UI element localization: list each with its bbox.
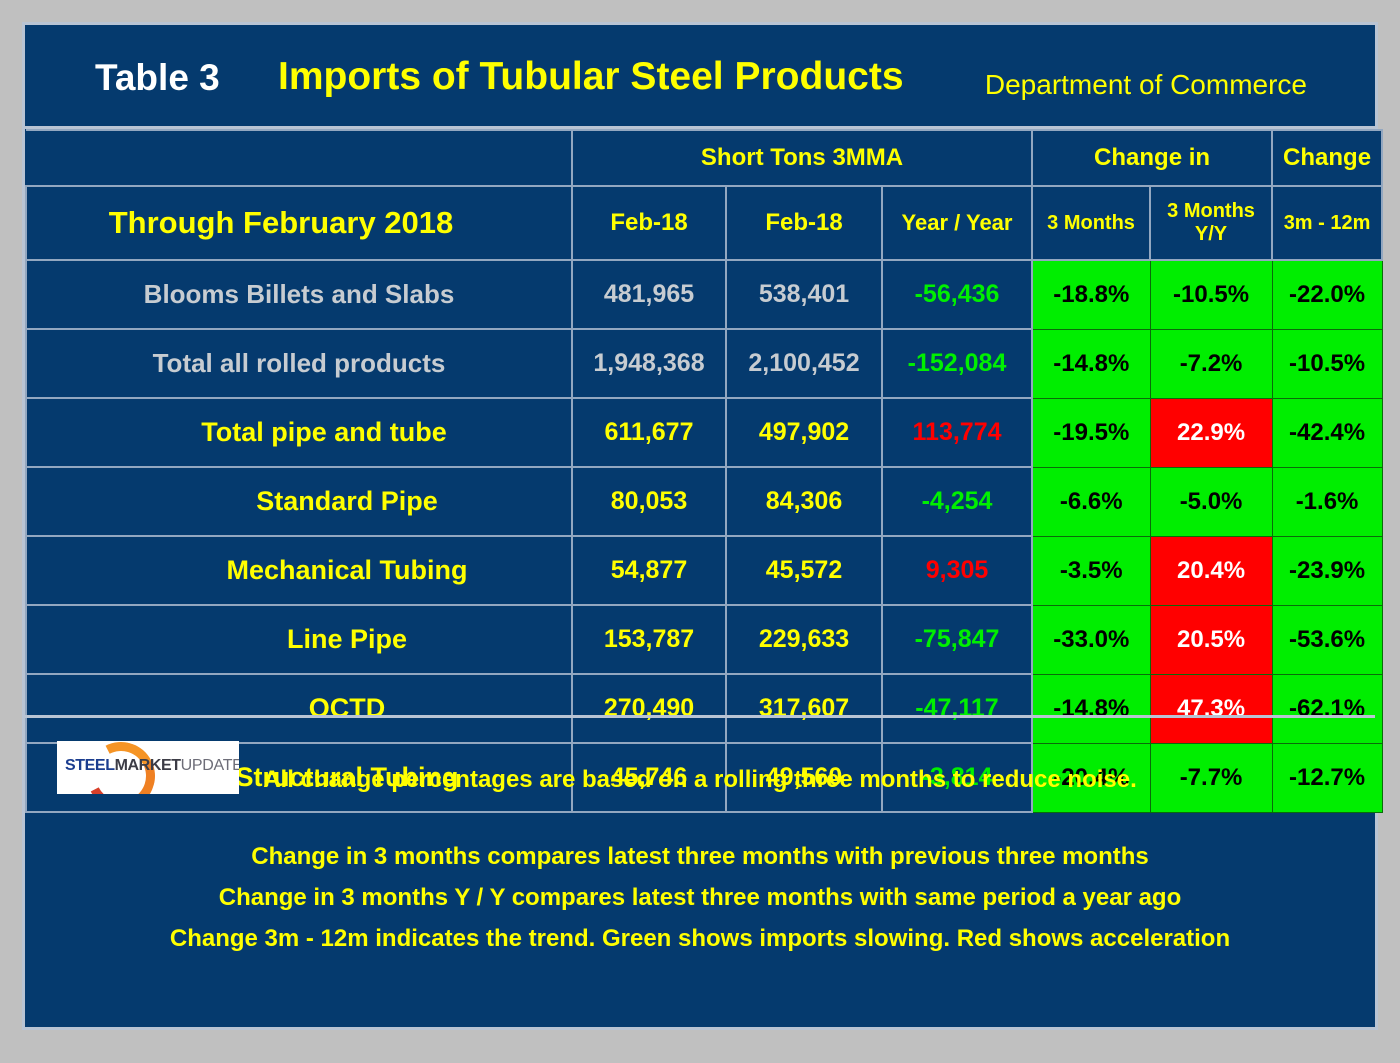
- cell-feb18-b: 538,401: [726, 260, 882, 329]
- cell-feb18-a: 80,053: [572, 467, 726, 536]
- cell-year-over-year: -75,847: [882, 605, 1032, 674]
- cell-change-3m-12m: -42.4%: [1272, 398, 1382, 467]
- group-header-change-in: Change in: [1032, 130, 1272, 186]
- cell-change-3-months: -6.6%: [1032, 467, 1150, 536]
- column-header-period: Through February 2018: [26, 186, 572, 260]
- table-number: Table 3: [95, 57, 220, 99]
- cell-change-3m-12m: -23.9%: [1272, 536, 1382, 605]
- row-label: Total pipe and tube: [26, 398, 572, 467]
- cell-change-3m-12m: -10.5%: [1272, 329, 1382, 398]
- cell-feb18-b: 497,902: [726, 398, 882, 467]
- cell-change-3m-12m: -22.0%: [1272, 260, 1382, 329]
- cell-change-3-months-yy: -5.0%: [1150, 467, 1272, 536]
- cell-year-over-year: 9,305: [882, 536, 1032, 605]
- footer-note-4: Change 3m - 12m indicates the trend. Gre…: [25, 925, 1375, 953]
- cell-year-over-year: -4,254: [882, 467, 1032, 536]
- table-row: Line Pipe153,787229,633-75,847-33.0%20.5…: [26, 605, 1382, 674]
- cell-change-3-months-yy: 20.5%: [1150, 605, 1272, 674]
- cell-change-3-months: -18.8%: [1032, 260, 1150, 329]
- column-header-3-months: 3 Months: [1032, 186, 1150, 260]
- row-label: Line Pipe: [26, 605, 572, 674]
- imports-table: Short Tons 3MMA Change in Change Through…: [25, 129, 1383, 813]
- column-header-3-months-yy-line2: Y/Y: [1195, 223, 1227, 245]
- cell-year-over-year: 113,774: [882, 398, 1032, 467]
- cell-feb18-b: 2,100,452: [726, 329, 882, 398]
- row-label: Standard Pipe: [26, 467, 572, 536]
- cell-feb18-a: 54,877: [572, 536, 726, 605]
- cell-feb18-b: 84,306: [726, 467, 882, 536]
- cell-change-3m-12m: -1.6%: [1272, 467, 1382, 536]
- table-group-header-row: Short Tons 3MMA Change in Change: [26, 130, 1382, 186]
- column-header-3-months-yy: 3 Months Y/Y: [1150, 186, 1272, 260]
- title-bar: Table 3 Imports of Tubular Steel Product…: [25, 25, 1375, 129]
- cell-change-3-months-yy: -7.2%: [1150, 329, 1272, 398]
- slide-panel: Table 3 Imports of Tubular Steel Product…: [22, 22, 1378, 1030]
- table-row: Total all rolled products1,948,3682,100,…: [26, 329, 1382, 398]
- table-row: Blooms Billets and Slabs481,965538,401-5…: [26, 260, 1382, 329]
- table-row: Standard Pipe80,05384,306-4,254-6.6%-5.0…: [26, 467, 1382, 536]
- column-header-3-months-yy-line1: 3 Months: [1167, 200, 1255, 222]
- column-header-year-year: Year / Year: [882, 186, 1032, 260]
- footer-note-1: All change percentages are based on a ro…: [25, 766, 1375, 794]
- cell-feb18-b: 229,633: [726, 605, 882, 674]
- footer-note-3: Change in 3 months Y / Y compares latest…: [25, 884, 1375, 912]
- footer-notes: STEELMARKETUPDATE All change percentages…: [25, 715, 1375, 1033]
- cell-feb18-a: 1,948,368: [572, 329, 726, 398]
- cell-year-over-year: -152,084: [882, 329, 1032, 398]
- cell-change-3-months-yy: 22.9%: [1150, 398, 1272, 467]
- cell-year-over-year: -56,436: [882, 260, 1032, 329]
- cell-change-3-months-yy: 20.4%: [1150, 536, 1272, 605]
- group-header-change: Change: [1272, 130, 1382, 186]
- cell-change-3-months: -19.5%: [1032, 398, 1150, 467]
- group-header-blank: [26, 130, 572, 186]
- data-source-label: Department of Commerce: [985, 69, 1307, 101]
- cell-change-3-months: -14.8%: [1032, 329, 1150, 398]
- cell-feb18-a: 611,677: [572, 398, 726, 467]
- table-row: Total pipe and tube611,677497,902113,774…: [26, 398, 1382, 467]
- cell-change-3-months-yy: -10.5%: [1150, 260, 1272, 329]
- cell-feb18-a: 481,965: [572, 260, 726, 329]
- cell-feb18-b: 45,572: [726, 536, 882, 605]
- table-row: Mechanical Tubing54,87745,5729,305-3.5%2…: [26, 536, 1382, 605]
- cell-change-3-months: -33.0%: [1032, 605, 1150, 674]
- cell-change-3m-12m: -53.6%: [1272, 605, 1382, 674]
- footer-note-2: Change in 3 months compares latest three…: [25, 843, 1375, 871]
- column-header-3m-12m: 3m - 12m: [1272, 186, 1382, 260]
- cell-feb18-a: 153,787: [572, 605, 726, 674]
- cell-change-3-months: -3.5%: [1032, 536, 1150, 605]
- row-label: Total all rolled products: [26, 329, 572, 398]
- row-label: Blooms Billets and Slabs: [26, 260, 572, 329]
- table-column-header-row: Through February 2018 Feb-18 Feb-18 Year…: [26, 186, 1382, 260]
- page-title: Imports of Tubular Steel Products: [278, 55, 904, 99]
- column-header-feb18-a: Feb-18: [572, 186, 726, 260]
- column-header-feb18-b: Feb-18: [726, 186, 882, 260]
- group-header-short-tons: Short Tons 3MMA: [572, 130, 1032, 186]
- row-label: Mechanical Tubing: [26, 536, 572, 605]
